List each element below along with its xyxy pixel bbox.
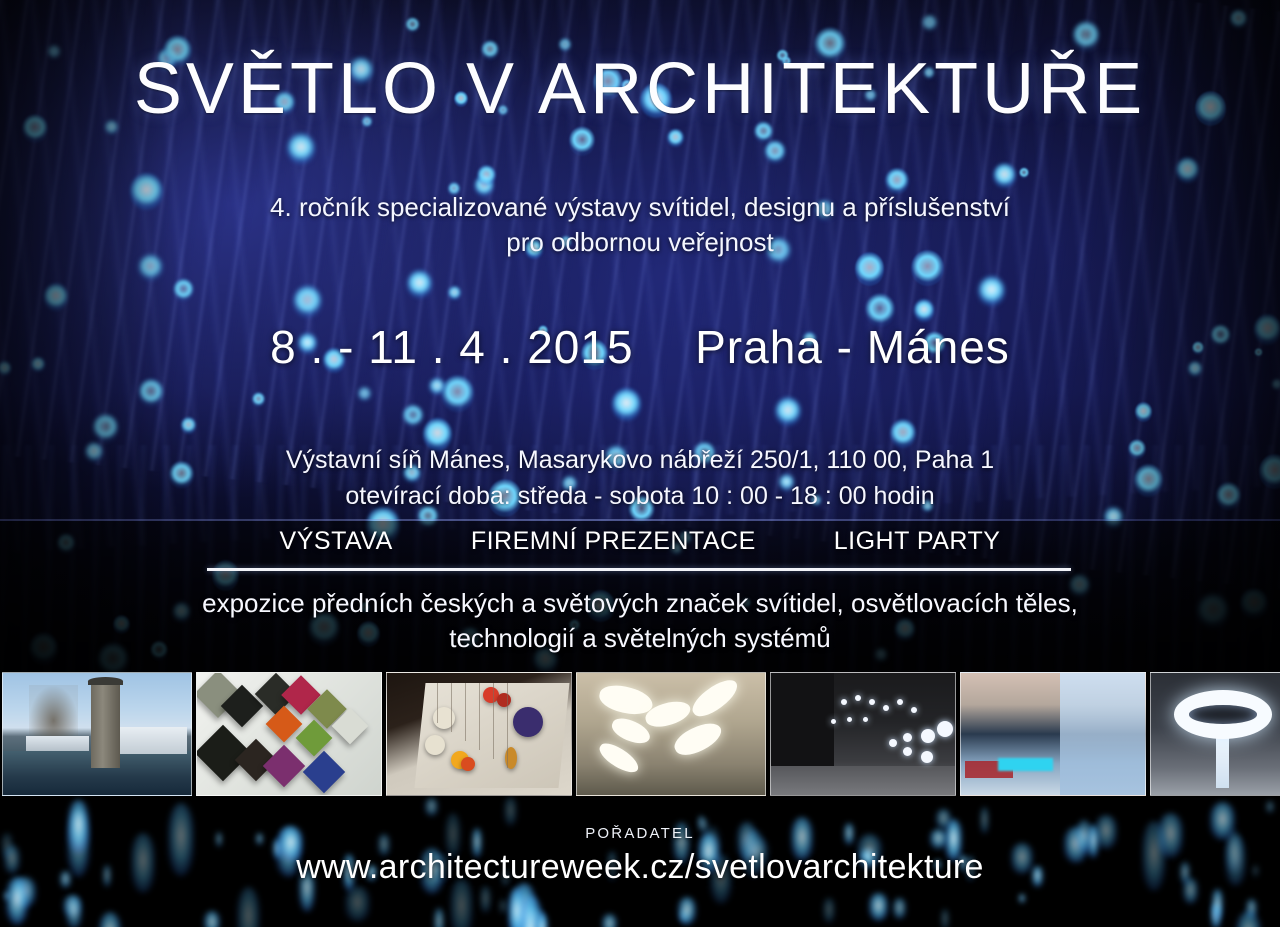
venue-address: Výstavní síň Mánes, Masarykovo nábřeží 2…	[0, 443, 1280, 479]
photo-lamp-stem	[1216, 732, 1229, 788]
category-light-party: LIGHT PARTY	[834, 527, 1001, 556]
photo-ceiling-lamp	[921, 729, 935, 743]
photo-ceiling-lamp	[921, 751, 933, 763]
photo-tree	[29, 685, 78, 744]
bottom-bokeh-light	[869, 893, 888, 921]
description-line-1: expozice předních českých a světových zn…	[0, 586, 1280, 621]
bottom-bokeh-light	[204, 911, 220, 927]
photo-coloured-cubes-wall	[196, 672, 382, 796]
photo-lit-bench	[998, 758, 1053, 770]
photo-chandelier-globe	[513, 707, 543, 737]
photo-chandelier-wire	[507, 683, 508, 768]
photo-ceiling-lamp	[863, 717, 868, 722]
subtitle-line-1: 4. ročník specializované výstavy svítide…	[0, 190, 1280, 225]
photo-floor	[771, 766, 955, 795]
photo-chandelier-wire	[479, 683, 480, 750]
photo-water-tower	[91, 680, 119, 768]
date-range: 8 . - 11 . 4 . 2015	[270, 321, 633, 373]
bottom-bokeh-light	[893, 898, 905, 919]
website-url[interactable]: www.architectureweek.cz/svetlovarchitekt…	[0, 848, 1280, 887]
photo-organic-light-segment	[688, 674, 743, 723]
page-title: SVĚTLO V ARCHITEKTUŘE	[0, 48, 1280, 130]
photo-chandelier-globe	[497, 693, 511, 707]
photo-chandelier-wire	[465, 683, 466, 741]
bottom-bokeh-light	[425, 798, 438, 816]
photo-lamp-ring	[1174, 690, 1272, 739]
venue-details-block: Výstavní síň Mánes, Masarykovo nábřeží 2…	[0, 443, 1280, 514]
category-vystava: VÝSTAVA	[280, 527, 393, 556]
poster: SVĚTLO V ARCHITEKTUŘE 4. ročník speciali…	[0, 0, 1280, 927]
bottom-bokeh-light	[1212, 889, 1223, 920]
photo-ceiling-lamp	[937, 721, 953, 737]
bottom-bokeh-light	[499, 899, 507, 914]
city-venue: Praha - Mánes	[695, 321, 1010, 373]
bottom-bokeh-light	[504, 797, 517, 825]
photo-organic-light-segment	[670, 717, 725, 761]
photo-ceiling-lamp	[883, 705, 889, 711]
bottom-bokeh-light	[508, 888, 525, 927]
photo-side-building	[26, 736, 90, 751]
venue-opening-hours: otevírací doba: středa - sobota 10 : 00 …	[0, 479, 1280, 515]
bottom-bokeh-light	[434, 908, 444, 927]
photo-strip	[0, 672, 1280, 796]
bottom-bokeh-light	[536, 913, 548, 927]
bottom-bokeh-light	[66, 896, 82, 927]
photo-exhibition-hall-visitors	[960, 672, 1146, 796]
bottom-bokeh-light	[1236, 911, 1261, 927]
photo-chandelier-globe	[425, 735, 445, 755]
photo-chandelier-wire	[451, 683, 452, 732]
photo-ceiling-lamp	[847, 717, 852, 722]
photo-manes-building-river	[2, 672, 192, 796]
photo-designer-chandelier	[386, 672, 572, 796]
photo-ceiling-lamp	[897, 699, 903, 705]
photo-ceiling-lamp	[855, 695, 861, 701]
photo-organic-ceiling-light	[576, 672, 766, 796]
subtitle-line-2: pro odbornou veřejnost	[0, 225, 1280, 260]
category-row: VÝSTAVA FIREMNÍ PREZENTACE LIGHT PARTY	[0, 527, 1280, 556]
bottom-bokeh-light	[237, 887, 260, 927]
photo-dark-wall	[771, 673, 834, 778]
photo-tower-dome	[88, 677, 124, 686]
bottom-bokeh-light	[480, 886, 491, 913]
subtitle-block: 4. ročník specializované výstavy svítide…	[0, 190, 1280, 260]
bottom-bokeh-light	[823, 898, 834, 923]
bottom-bokeh-light	[602, 914, 617, 927]
photo-ceiling-lamp	[889, 739, 897, 747]
bottom-bokeh-light	[345, 886, 370, 922]
description-line-2: technologií a světelných systémů	[0, 621, 1280, 656]
photo-chandelier-globe	[461, 757, 475, 771]
bottom-bokeh-light	[678, 897, 696, 926]
photo-chandelier-wire	[493, 683, 494, 759]
photo-ceiling-lamp	[903, 733, 912, 742]
organizer-label: POŘADATEL	[0, 825, 1280, 842]
bottom-bokeh-light	[4, 892, 10, 899]
photo-ceiling-lamp	[841, 699, 847, 705]
photo-organic-light-segment	[596, 739, 643, 778]
photo-ceiling-lamp	[903, 747, 912, 756]
photo-chandelier-wire	[437, 683, 438, 723]
date-and-venue-headline: 8 . - 11 . 4 . 2015 Praha - Mánes	[0, 320, 1280, 374]
bottom-bokeh-light	[941, 909, 949, 927]
description-block: expozice předních českých a světových zn…	[0, 586, 1280, 656]
photo-dark-showroom-interior	[770, 672, 956, 796]
photo-cube	[303, 751, 345, 793]
poster-content: SVĚTLO V ARCHITEKTUŘE 4. ročník speciali…	[0, 0, 1280, 927]
bottom-bokeh-light	[1019, 894, 1025, 902]
photo-glass-wall	[1060, 673, 1145, 795]
bottom-bokeh-light	[99, 912, 121, 927]
horizontal-rule	[207, 568, 1071, 571]
photo-ceiling-lamp	[869, 699, 875, 705]
photo-ring-torus-lamp	[1150, 672, 1280, 796]
bottom-bokeh-light	[1266, 801, 1274, 813]
photo-ceiling-lamp	[831, 719, 836, 724]
photo-manes-hall	[112, 727, 187, 754]
category-firemni-prezentace: FIREMNÍ PREZENTACE	[471, 527, 756, 556]
photo-ceiling-lamp	[911, 707, 917, 713]
footer: POŘADATEL www.architectureweek.cz/svetlo…	[0, 825, 1280, 887]
